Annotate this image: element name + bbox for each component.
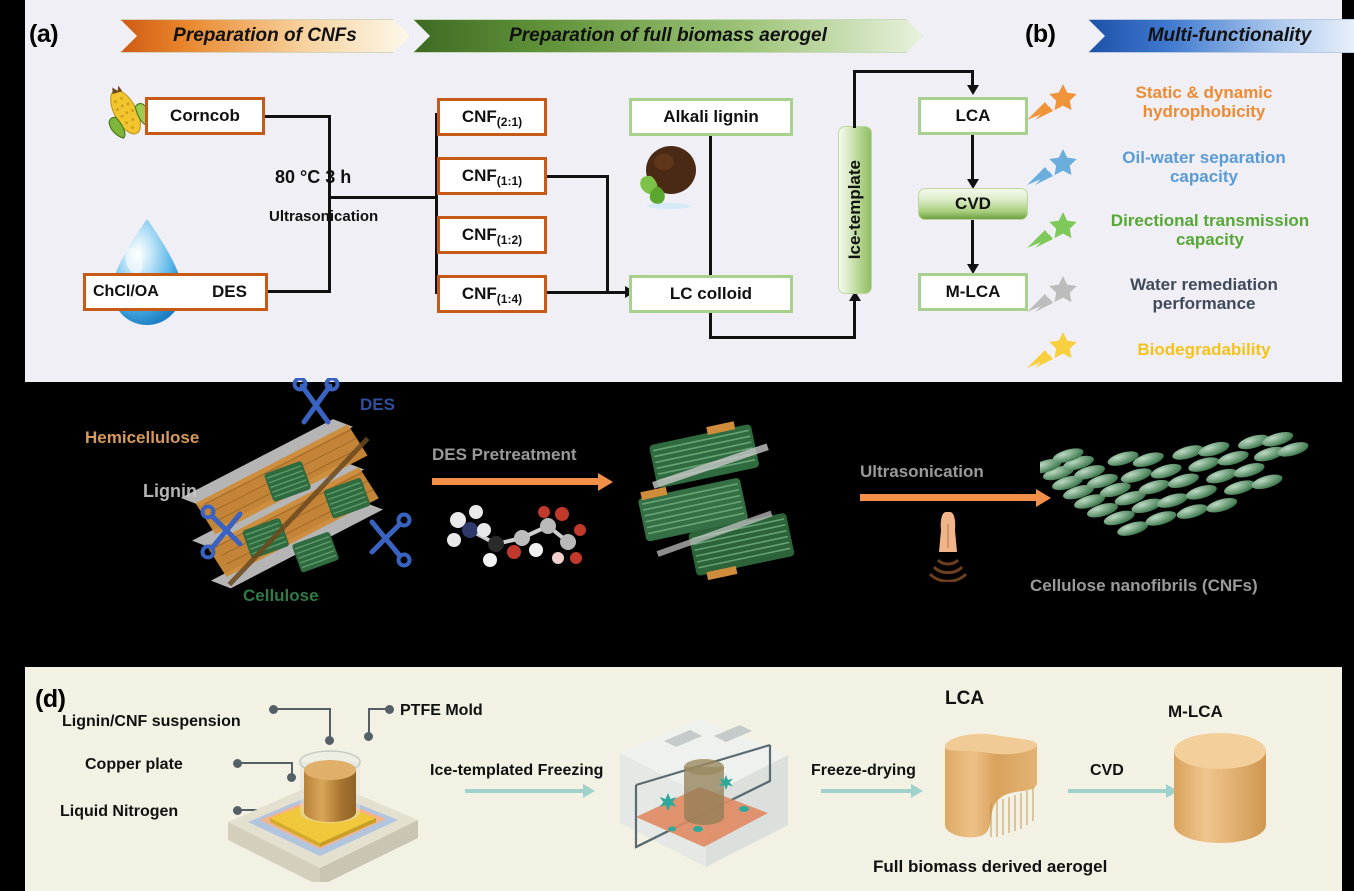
scissors-icon: [288, 378, 344, 434]
banner-preparation-of-cnfs: Preparation of CNFs: [120, 19, 410, 53]
arrow-des-pretreatment: [432, 478, 600, 485]
box-cvd-label: CVD: [955, 194, 991, 214]
cnf-network-icon: [1040, 417, 1330, 577]
molecule-icon: [436, 500, 606, 580]
banner-preparation-of-aerogel: Preparation of full biomass aerogel: [413, 19, 923, 53]
label-freeze-drying: Freeze-drying: [811, 762, 916, 780]
label-ptfe-mold: PTFE Mold: [400, 702, 483, 720]
line-lc-to-ice: [709, 336, 855, 339]
box-lc-colloid-label: LC colloid: [670, 285, 752, 303]
box-cnf-1-4: CNF(1:4): [437, 275, 547, 313]
temp-time-label: 80 °C 3 h: [275, 167, 351, 188]
function-label-biodegradability: Biodegradability: [1081, 340, 1327, 359]
ultrasonic-probe-icon: [918, 510, 978, 582]
leader-line-ptfe-h: [368, 708, 388, 710]
line-lca-to-cvd: [971, 135, 974, 183]
shooting-star-icon: [1025, 80, 1081, 124]
line-cnf11-out: [547, 175, 609, 178]
label-cellulose-nanofibrils: Cellulose nanofibrils (CNFs): [1030, 576, 1258, 596]
box-cnf-1-2: CNF(1:2): [437, 216, 547, 254]
line-ice-up-seg: [853, 300, 856, 339]
box-alkali-lignin-label: Alkali lignin: [663, 108, 758, 126]
function-row-hydrophobicity: Static & dynamic hydrophobicity: [1025, 80, 1327, 124]
function-row-oil-water: Oil-water separation capacity: [1025, 145, 1327, 189]
label-lignin-cnf-suspension: Lignin/CNF suspension: [62, 713, 241, 731]
function-row-water-remediation: Water remediation performance: [1025, 272, 1327, 316]
scissors-icon: [196, 504, 252, 560]
function-row-directional: Directional transmission capacity: [1025, 208, 1339, 252]
line-cnf11-down: [606, 175, 609, 293]
box-cnf14-label: CNF(1:4): [462, 285, 522, 303]
line-lignin-down: [709, 136, 712, 278]
m-lca-cylinder-icon: [1160, 727, 1280, 857]
mold-assembly-icon: [220, 722, 425, 882]
label-m-lca-d: M-LCA: [1168, 702, 1223, 722]
line-cnf-bus: [435, 113, 438, 294]
figure-root: (a) (b) Preparation of CNFs Preparation …: [0, 0, 1354, 891]
arrow-freeze-drying: [821, 789, 913, 793]
label-ice-templated-freezing: Ice-templated Freezing: [430, 762, 603, 780]
box-cnf-2-1: CNF(2:1): [437, 98, 547, 136]
box-corncob-label: Corncob: [170, 107, 240, 125]
arrow-into-lca: [967, 85, 979, 95]
label-liquid-nitrogen: Liquid Nitrogen: [60, 803, 178, 821]
box-cnf11-label: CNF(1:1): [462, 167, 522, 185]
arrow-ultrasonication: [860, 494, 1038, 501]
banner-cnfs-label: Preparation of CNFs: [173, 25, 357, 47]
line-cnf14-to-lc: [547, 291, 609, 294]
box-ice-template: Ice-template: [838, 126, 872, 294]
panel-b-letter: (b): [1025, 20, 1055, 49]
leader-line-suspension-h: [273, 708, 331, 710]
box-des-label: DES: [212, 283, 247, 301]
function-label-hydrophobicity: Static & dynamic hydrophobicity: [1081, 83, 1327, 121]
line-corncob-right: [265, 115, 331, 118]
line-des-right: [268, 290, 331, 293]
scissors-icon: [360, 512, 416, 568]
des-prefix-label: ChCl/OA: [93, 283, 159, 301]
ultrasonication-label: Ultrasonication: [269, 208, 378, 225]
line-cvd-to-mlca: [971, 220, 974, 268]
label-copper-plate: Copper plate: [85, 756, 183, 774]
line-ice-top-up: [853, 70, 856, 128]
label-ultrasonication-c: Ultrasonication: [860, 462, 984, 482]
box-lc-colloid: LC colloid: [629, 275, 793, 313]
label-full-biomass-aerogel: Full biomass derived aerogel: [873, 857, 1107, 877]
panel-c: DES Hemicellulose Lignin Cellulose DES P…: [0, 382, 1354, 667]
function-label-water-remediation: Water remediation performance: [1081, 275, 1327, 313]
label-lca-d: LCA: [945, 688, 984, 710]
line-left-bus: [328, 115, 331, 293]
box-cnf21-label: CNF(2:1): [462, 108, 522, 126]
box-lca-label: LCA: [956, 107, 991, 125]
function-row-biodegradability: Biodegradability: [1025, 328, 1327, 372]
box-ice-template-label: Ice-template: [845, 160, 865, 259]
line-ice-top-across: [853, 70, 974, 73]
banner-aerogel-label: Preparation of full biomass aerogel: [509, 25, 827, 47]
freezer-box-icon: [600, 705, 810, 880]
arrow-cvd-d: [1068, 789, 1168, 793]
arrow-head-freeze-drying: [911, 784, 923, 798]
label-cvd-d: CVD: [1090, 762, 1124, 780]
banner-multifunctionality-label: Multi-functionality: [1148, 25, 1312, 47]
panel-d-letter: (d): [35, 685, 65, 714]
function-label-oil-water: Oil-water separation capacity: [1081, 148, 1327, 186]
shooting-star-icon: [1025, 272, 1081, 316]
shooting-star-icon: [1025, 208, 1081, 252]
shooting-star-icon: [1025, 145, 1081, 189]
panel-a-b: (a) (b) Preparation of CNFs Preparation …: [25, 0, 1342, 382]
box-cnf12-label: CNF(1:2): [462, 226, 522, 244]
aerogel-cylinder-icon: [925, 725, 1065, 855]
box-cnf-1-1: CNF(1:1): [437, 157, 547, 195]
box-corncob: Corncob: [145, 97, 265, 135]
box-lca: LCA: [918, 97, 1028, 135]
box-m-lca: M-LCA: [918, 273, 1028, 311]
arrow-ice-templated-freezing: [465, 789, 585, 793]
box-alkali-lignin: Alkali lignin: [629, 98, 793, 136]
function-label-directional: Directional transmission capacity: [1081, 211, 1339, 249]
panel-d: (d) Lignin/CNF suspension Copper plate L…: [25, 667, 1342, 891]
arrow-head-des-pretreatment: [598, 473, 613, 491]
banner-multi-functionality: Multi-functionality: [1088, 19, 1354, 53]
line-bus-to-right: [328, 196, 438, 199]
box-m-lca-label: M-LCA: [946, 283, 1001, 301]
cellulose-bundle-icon: [630, 420, 830, 600]
box-cvd: CVD: [918, 188, 1028, 220]
panel-a-letter: (a): [29, 20, 58, 49]
shooting-star-icon: [1025, 328, 1081, 372]
arrow-head-freezing: [583, 784, 595, 798]
lignin-ball-icon: [633, 140, 705, 212]
